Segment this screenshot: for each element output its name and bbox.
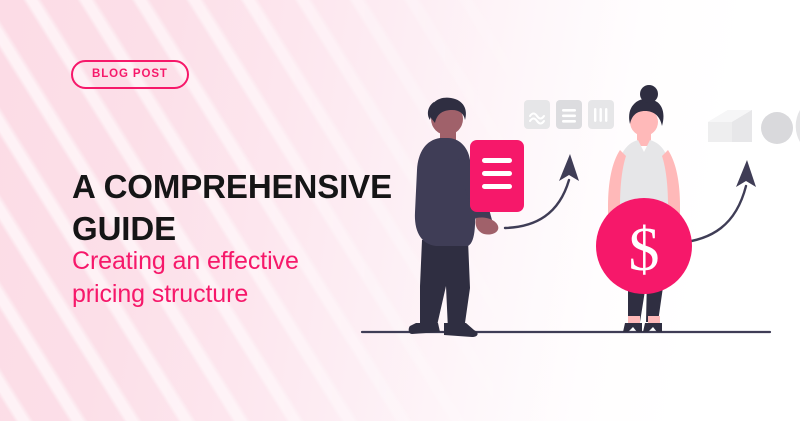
pricing-strategy-illustration: $	[340, 80, 800, 355]
tile-bars-icon	[588, 100, 614, 129]
man-shirt	[415, 138, 475, 246]
decor-circle	[761, 112, 793, 144]
headline-line-2: GUIDE	[72, 210, 176, 247]
man-hand	[475, 217, 498, 234]
subtitle-line-2: pricing structure	[72, 280, 248, 308]
tile-lines-icon	[556, 100, 582, 129]
dollar-coin: $	[596, 198, 692, 294]
man-holding-document	[409, 98, 524, 337]
man-trousers	[420, 240, 470, 330]
man-shoe-front	[444, 323, 478, 337]
document-card	[470, 140, 524, 212]
blog-post-badge-label: BLOG POST	[92, 69, 168, 81]
woman-shoe-left	[623, 323, 642, 332]
woman-hair-bun	[640, 85, 658, 103]
blog-post-badge[interactable]: BLOG POST	[71, 60, 189, 89]
growth-arrow-right	[678, 160, 756, 243]
subtitle-line-1: Creating an effective	[72, 247, 299, 275]
blog-post-banner: BLOG POST A COMPREHENSIVE GUIDE Creating…	[0, 0, 800, 421]
decor-quarter-circle	[796, 110, 800, 142]
dollar-coin-symbol: $	[629, 216, 660, 284]
tile-wave-icon	[524, 100, 550, 129]
woman-shoe-right	[643, 323, 662, 332]
decor-cube	[708, 110, 752, 142]
